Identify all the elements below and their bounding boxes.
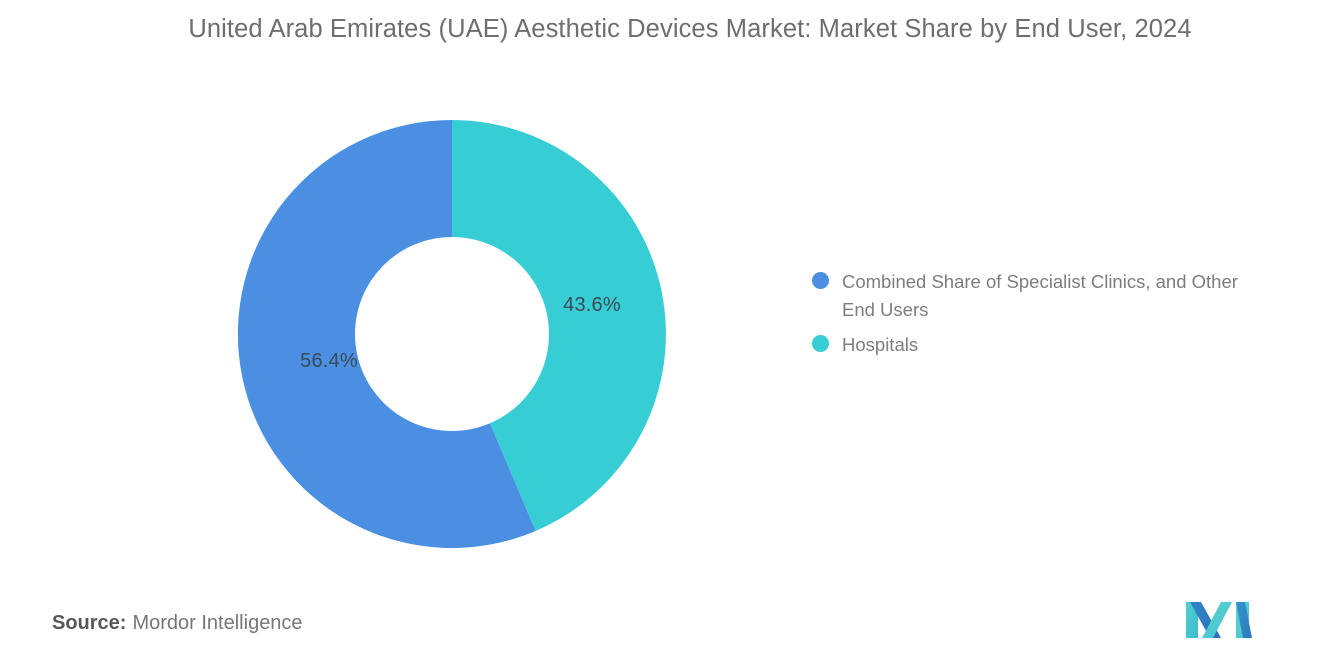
chart-legend: Combined Share of Specialist Clinics, an… [812, 268, 1282, 366]
data-label-combined-share: 56.4% [274, 350, 384, 373]
source-label: Source: [52, 612, 126, 634]
source-attribution: Source:Mordor Intelligence [52, 612, 303, 635]
mordor-intelligence-logo [1183, 596, 1255, 642]
source-value: Mordor Intelligence [132, 612, 302, 634]
legend-item-hospitals[interactable]: Hospitals [812, 331, 1282, 359]
legend-item-combined-share[interactable]: Combined Share of Specialist Clinics, an… [812, 268, 1282, 324]
circle-marker-icon [812, 272, 829, 289]
legend-item-label: Hospitals [842, 331, 918, 359]
legend-item-label: Combined Share of Specialist Clinics, an… [842, 268, 1267, 324]
circle-marker-icon [812, 335, 829, 352]
donut-center-hole [355, 237, 549, 431]
data-label-hospitals: 43.6% [537, 294, 647, 317]
mordor-intelligence-logo-icon [1183, 596, 1255, 642]
donut-chart-svg [236, 118, 668, 550]
chart-title: United Arab Emirates (UAE) Aesthetic Dev… [160, 10, 1220, 48]
donut-chart: 56.4% 43.6% [236, 118, 668, 550]
